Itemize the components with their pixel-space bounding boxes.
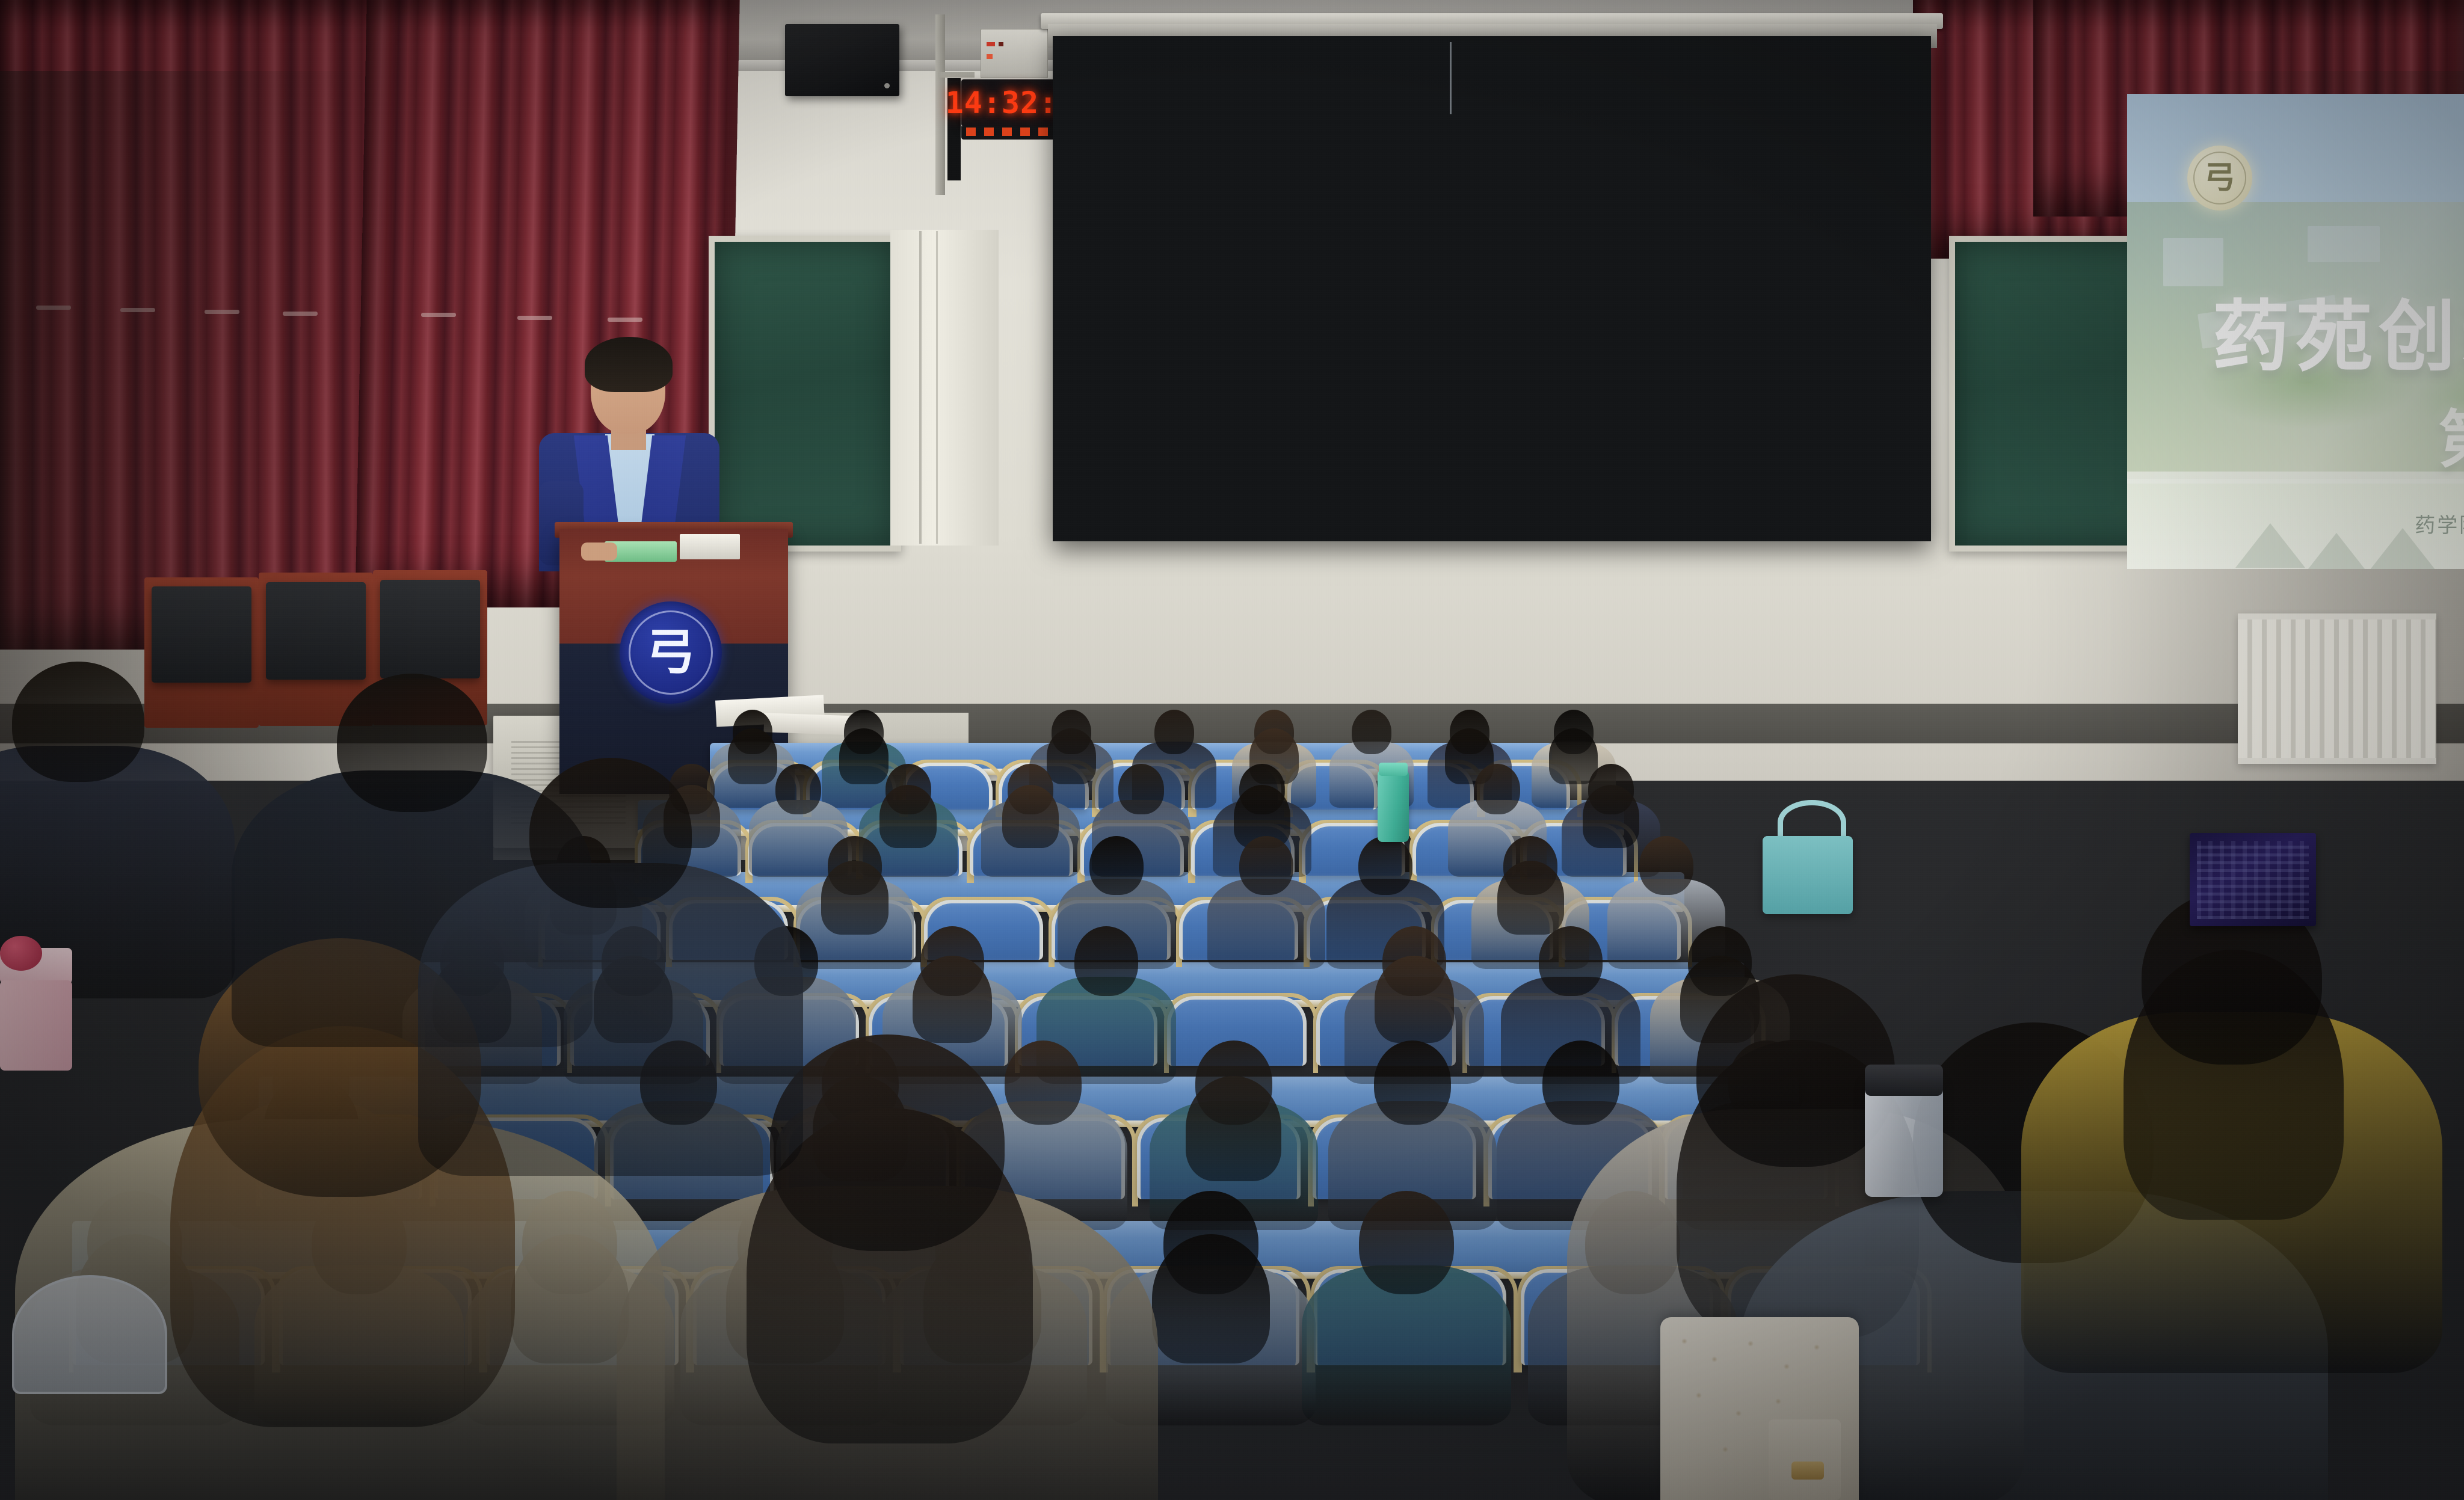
lecture-hall-photo: HNGR.0E57 din 14:32:27	[0, 0, 2464, 1500]
water-bottle-cap	[1379, 763, 1408, 776]
audience-member-head	[1005, 1040, 1082, 1125]
audience-member-head	[1359, 1191, 1454, 1294]
front-chair[interactable]	[266, 582, 366, 680]
audience-member-head	[775, 764, 821, 814]
projection-screen-frame: 弓 药苑创新学术论坛 第一期 药学院 2022年4月27日	[1053, 36, 1931, 541]
conduit-bracket	[938, 72, 975, 78]
emblem-glyph: 弓	[646, 628, 695, 677]
slide-subtitle: 第一期	[2127, 389, 2464, 479]
front-chair[interactable]	[152, 586, 251, 683]
red-bead-ornament	[0, 936, 42, 971]
audience-member-head	[1474, 764, 1520, 814]
teal-handbag[interactable]	[1763, 836, 1853, 914]
speaker-hand	[581, 543, 617, 561]
wall-radiator	[2238, 613, 2436, 764]
speaker-hair	[585, 337, 673, 392]
foreground-attendee-head	[337, 674, 487, 812]
pillar-groove	[919, 231, 922, 544]
audience-member-hair	[1047, 728, 1096, 784]
front-chair[interactable]	[380, 580, 480, 678]
curtain-hook	[608, 318, 642, 322]
foreground-attendee-torso	[418, 863, 803, 1176]
pillar-groove	[936, 231, 938, 544]
audience-member-head	[1542, 1040, 1619, 1125]
curtain-hook	[421, 313, 456, 317]
audience-member-hair	[913, 956, 991, 1043]
audience-member-hair	[1497, 861, 1565, 935]
av-control-box[interactable]	[981, 29, 1048, 78]
audience-member-head	[1154, 710, 1194, 754]
wall-speaker-icon	[785, 24, 899, 96]
wall-pillar	[890, 230, 999, 546]
audience-member-hair	[1375, 956, 1453, 1043]
ceiling-conduit	[935, 14, 945, 195]
audience-member-hair	[1002, 785, 1059, 848]
audience-member-hair	[1583, 785, 1639, 848]
audience-member-hair	[1186, 1076, 1281, 1181]
clear-container[interactable]	[12, 1275, 167, 1394]
chalkboard-left	[709, 236, 901, 552]
university-emblem-icon: 弓	[620, 601, 722, 704]
audience-member-head	[1239, 836, 1293, 895]
foreground-attendee-head	[12, 662, 144, 782]
logo-glyph: 弓	[2204, 162, 2235, 194]
handbag-strap	[1769, 1419, 1841, 1500]
audience-member-head	[1352, 710, 1391, 754]
control-led-icon	[987, 42, 995, 46]
audience-member-head	[1639, 836, 1693, 895]
foreground-attendee-head	[529, 758, 692, 908]
slide-footer-text: 药学院 2022年4月27日	[2127, 509, 2464, 538]
curtain-hook	[517, 316, 552, 320]
screen-seam-line	[1450, 42, 1452, 114]
audience-member-hair	[821, 861, 889, 935]
water-bottle[interactable]	[1378, 770, 1409, 842]
control-led-icon	[999, 42, 1003, 46]
thermos-cap	[1865, 1065, 1943, 1096]
audience-member-hair	[879, 785, 936, 848]
audience-member-hair	[1152, 1234, 1270, 1363]
handbag-clasp-icon	[1791, 1462, 1824, 1480]
audience-member-hair	[1549, 728, 1598, 784]
projected-slide: 弓 药苑创新学术论坛 第一期 药学院 2022年4月27日	[2127, 94, 2464, 569]
podium-papers	[680, 534, 740, 559]
audience-member-head	[1118, 764, 1164, 814]
laptop-screen-content	[2197, 841, 2309, 919]
speaker-led-icon	[884, 83, 890, 88]
pink-cup[interactable]	[0, 980, 72, 1071]
audience-member-hair	[839, 728, 889, 784]
control-led-icon	[987, 54, 993, 59]
audience-member-hair	[728, 728, 777, 784]
audience-member-head	[1358, 836, 1412, 895]
university-logo-icon: 弓	[2187, 146, 2252, 211]
logo-ring: 弓	[2193, 152, 2246, 204]
slide-title: 药苑创新学术论坛	[2127, 274, 2464, 386]
foreground-attendee-head	[770, 1034, 1005, 1251]
audience-member-head	[1089, 836, 1144, 895]
emblem-ring: 弓	[629, 610, 713, 695]
audience-member-head	[1539, 926, 1603, 996]
audience-member-head	[1074, 926, 1138, 996]
audience-member-head	[1374, 1040, 1451, 1125]
